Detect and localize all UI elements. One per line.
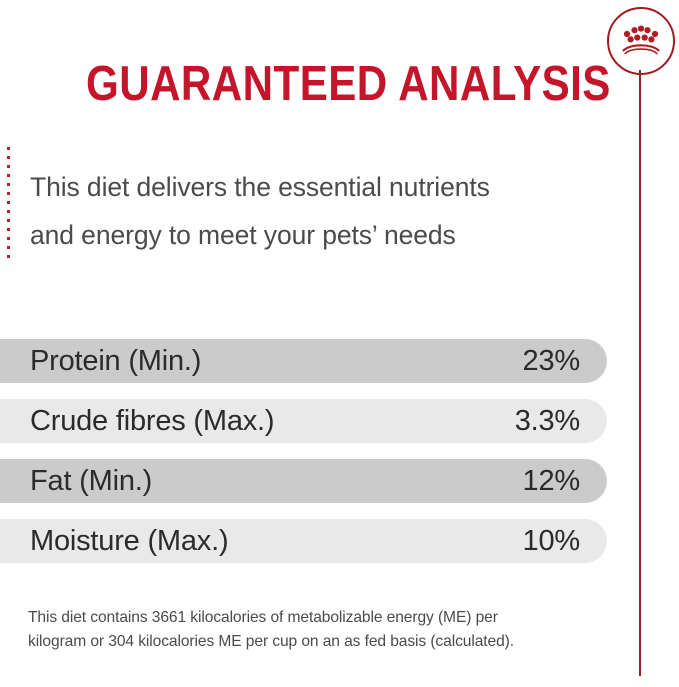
royal-canin-logo (607, 7, 675, 75)
table-row: Moisture (Max.) 10% (0, 519, 607, 563)
nutrient-value: 3.3% (515, 399, 580, 443)
table-row: Fat (Min.) 12% (0, 459, 607, 503)
intro-paragraph: This diet delivers the essential nutrien… (30, 163, 610, 259)
page-title: GUARANTEED ANALYSIS (86, 55, 611, 113)
nutrient-value: 12% (523, 459, 580, 503)
footnote-line: This diet contains 3661 kilocalories of … (28, 606, 608, 630)
royal-canin-crown-icon (618, 25, 664, 55)
intro-line: This diet delivers the essential nutrien… (30, 163, 610, 211)
nutrient-value: 23% (523, 339, 580, 383)
footnote-line: kilogram or 304 kilocalories ME per cup … (28, 630, 608, 654)
nutrient-name: Moisture (Max.) (30, 519, 228, 563)
nutrient-name: Fat (Min.) (30, 459, 152, 503)
table-row: Crude fibres (Max.) 3.3% (0, 399, 607, 443)
energy-footnote: This diet contains 3661 kilocalories of … (28, 606, 608, 654)
guaranteed-analysis-panel: GUARANTEED ANALYSIS This diet delivers t… (0, 0, 679, 687)
nutrient-table: Protein (Min.) 23% Crude fibres (Max.) 3… (0, 339, 609, 579)
nutrient-name: Protein (Min.) (30, 339, 201, 383)
logo-vertical-rule (639, 70, 641, 676)
nutrient-name: Crude fibres (Max.) (30, 399, 274, 443)
table-row: Protein (Min.) 23% (0, 339, 607, 383)
nutrient-value: 10% (523, 519, 580, 563)
intro-line: and energy to meet your pets’ needs (30, 211, 610, 259)
dotted-vertical-rule-icon (7, 147, 10, 261)
